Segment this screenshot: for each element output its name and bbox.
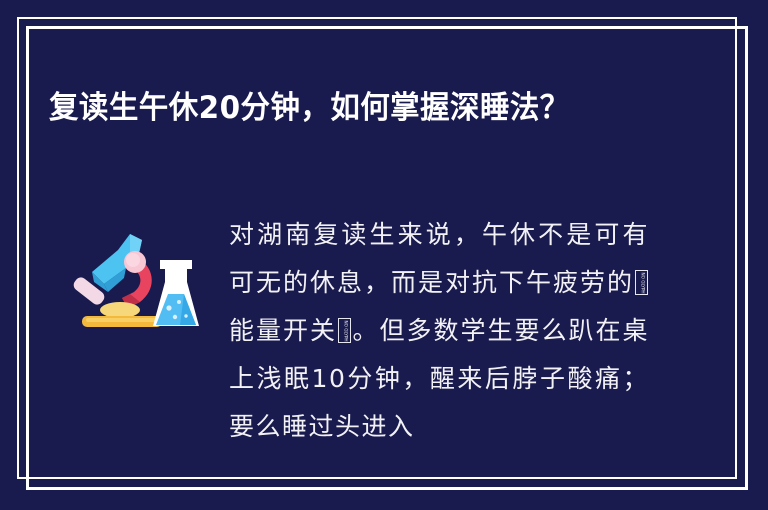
missing-glyph-box-close-quote	[338, 318, 351, 343]
article-card: 复读生午休20分钟，如何掌握深睡法？	[0, 0, 768, 510]
missing-glyph-box-open-quote	[635, 270, 648, 295]
body-segment-2: 能量开关	[229, 316, 337, 345]
page-title: 复读生午休20分钟，如何掌握深睡法？	[49, 83, 581, 133]
microscope-and-flask-illustration	[68, 222, 200, 340]
article-body: 对湖南复读生来说，午休不是可有可无的休息，而是对抗下午疲劳的能量开关。但多数学生…	[229, 211, 649, 471]
body-segment-1: 对湖南复读生来说，午休不是可有可无的休息，而是对抗下午疲劳的	[229, 220, 649, 297]
